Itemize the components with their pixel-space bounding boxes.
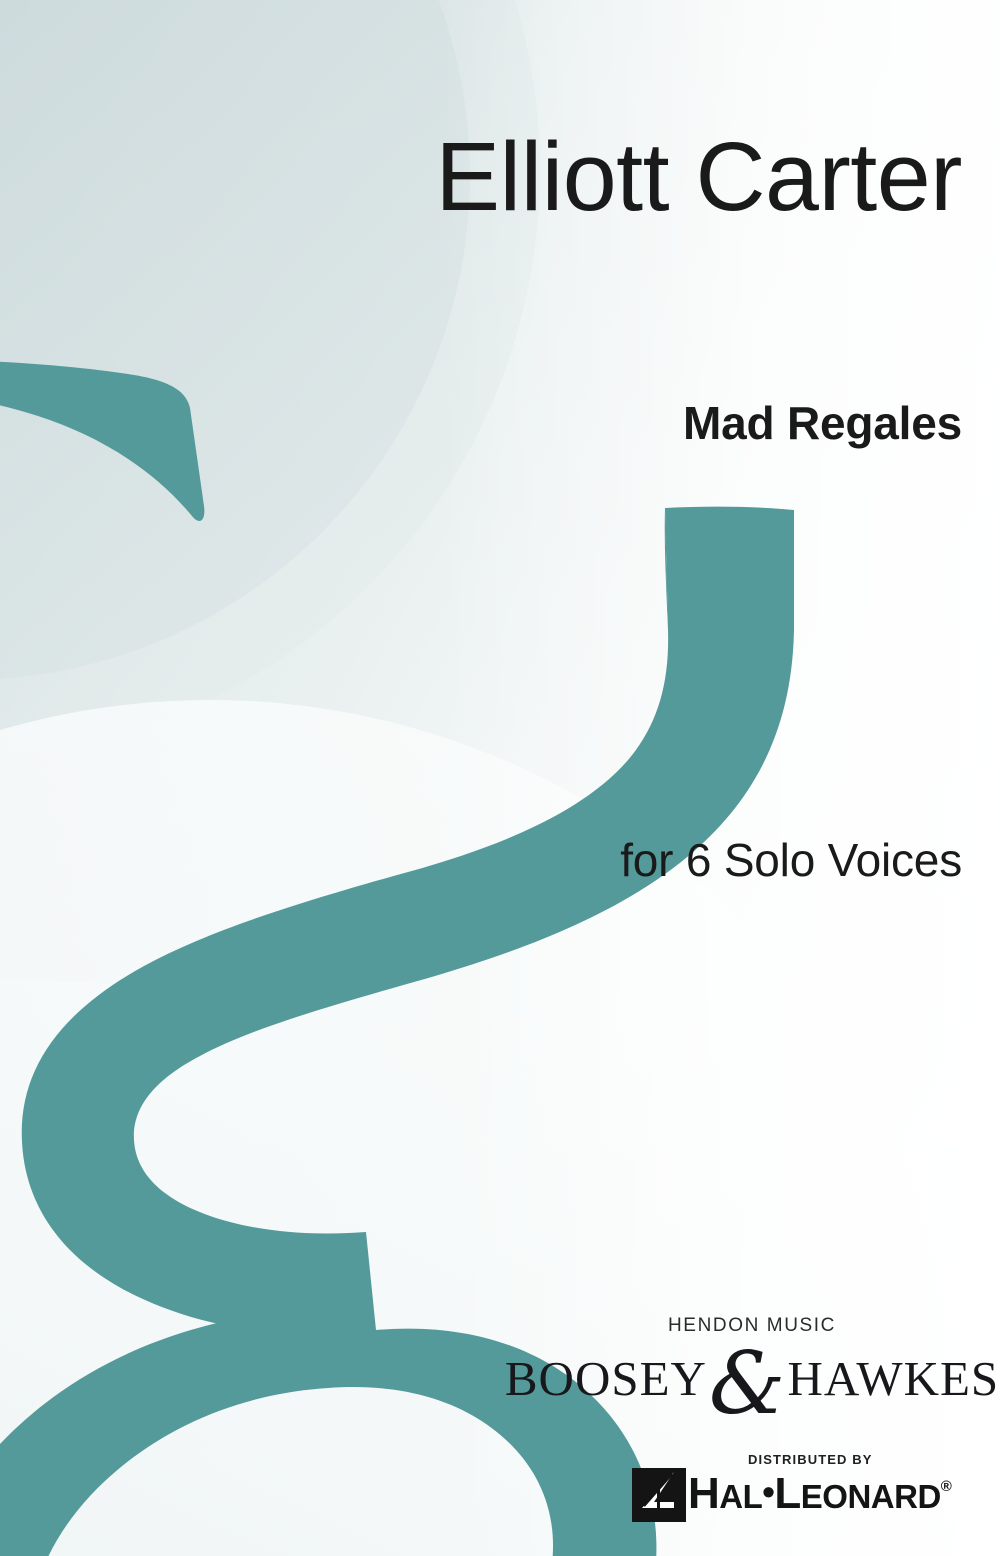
page-title: Mad Regales bbox=[683, 396, 962, 450]
hl-name-lead: H bbox=[688, 1469, 719, 1518]
distributed-by-label: DISTRIBUTED BY bbox=[748, 1452, 872, 1467]
distributor-block: DISTRIBUTED BY HAL•LEONARD® bbox=[622, 1452, 962, 1532]
hal-leonard-mark-icon bbox=[632, 1468, 686, 1522]
composer-name: Elliott Carter bbox=[435, 126, 962, 228]
boosey-hawkes-logo: BOOSEY & HAWKES bbox=[542, 1344, 962, 1413]
hl-name-rest-2: EONARD bbox=[801, 1478, 941, 1515]
publisher-name-second: HAWKES bbox=[787, 1354, 999, 1403]
imprint-name: HENDON MUSIC bbox=[542, 1316, 962, 1335]
hal-leonard-wordmark: HAL•LEONARD® bbox=[688, 1472, 951, 1516]
work-scoring: for 6 Solo Voices bbox=[620, 833, 962, 887]
publisher-block: HENDON MUSIC BOOSEY & HAWKES bbox=[542, 1316, 962, 1413]
publisher-name-first: BOOSEY bbox=[505, 1354, 707, 1403]
registered-trademark-icon: ® bbox=[941, 1478, 952, 1495]
hl-name-lead-2: L bbox=[774, 1469, 800, 1518]
hl-separator-dot-icon: • bbox=[762, 1471, 774, 1512]
sheet-music-cover: Elliott Carter Mad Regales for 6 Solo Vo… bbox=[0, 0, 1000, 1556]
hl-name-rest-1: AL bbox=[719, 1478, 762, 1515]
publisher-ampersand-icon: & bbox=[709, 1350, 786, 1419]
